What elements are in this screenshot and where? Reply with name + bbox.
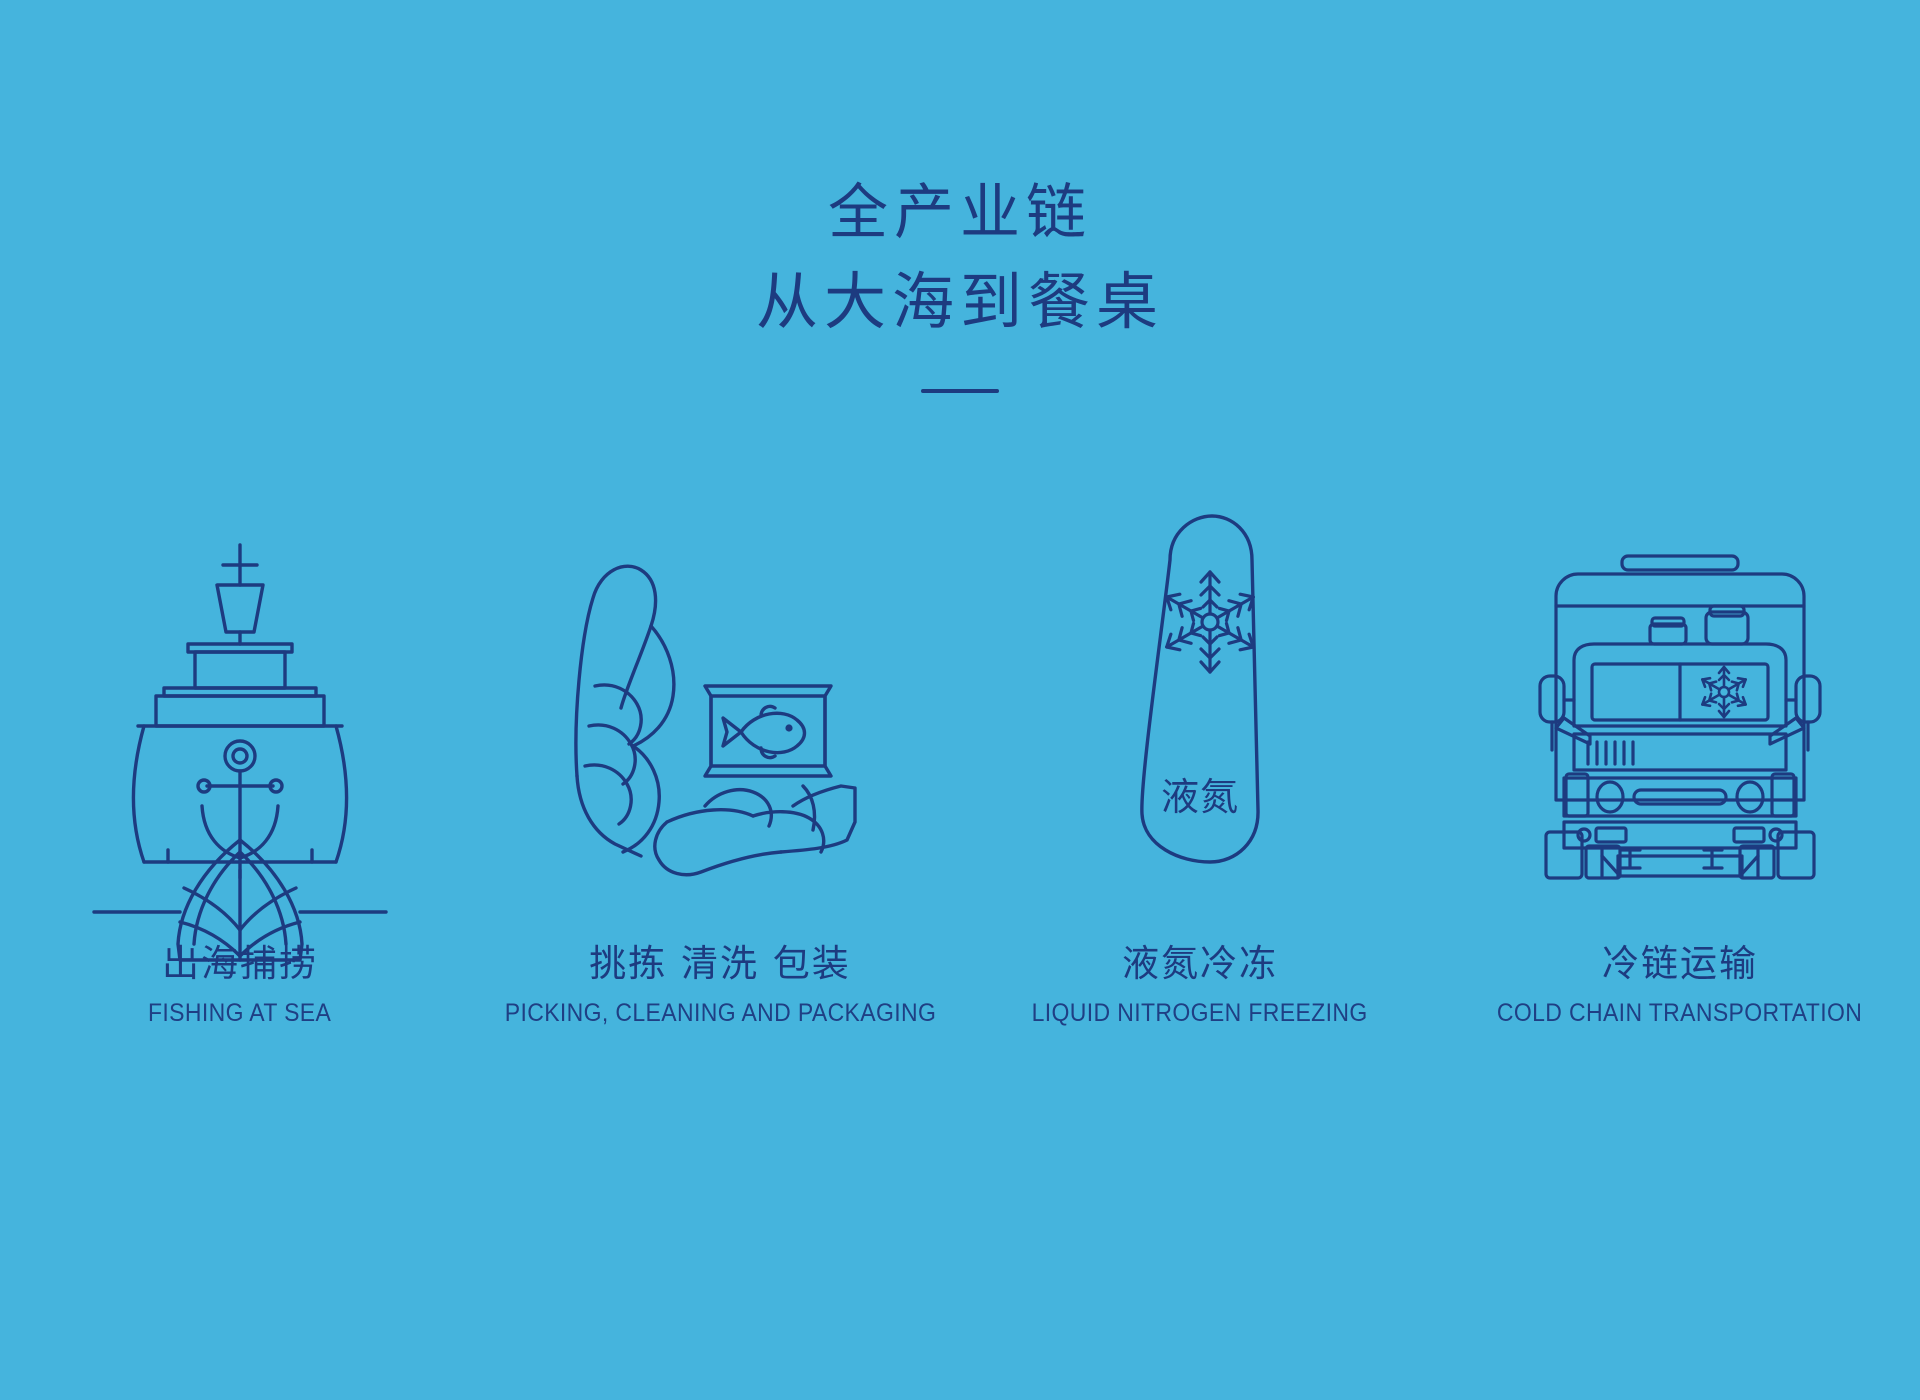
step-labels: 出海捕捞 FISHING AT SEA (140, 942, 339, 1028)
step-labels: 挑拣 清洗 包装 PICKING, CLEANING AND PACKAGING (486, 942, 955, 1028)
step-label-en: FISHING AT SEA (148, 999, 331, 1028)
page-title-primary: 全产业链 (0, 170, 1920, 257)
heading-block: 全产业链 从大海到餐桌 (0, 170, 1920, 393)
step-label-en: PICKING, CLEANING AND PACKAGING (504, 999, 935, 1028)
canister-label: 液氮 (1161, 775, 1239, 819)
step-label-cn: 出海捕捞 (140, 942, 339, 986)
refrigerated-truck-icon (1530, 520, 1830, 880)
fishing-boat-icon (80, 520, 400, 880)
hands-with-packaged-fish-icon (555, 520, 885, 880)
poster-canvas: 全产业链 从大海到餐桌 (0, 0, 1920, 1400)
process-steps: 出海捕捞 FISHING AT SEA (0, 520, 1920, 1028)
step-label-cn: 液氮冷冻 (1017, 942, 1382, 986)
step-label-en: COLD CHAIN TRANSPORTATION (1497, 999, 1862, 1028)
step-labels: 液氮冷冻 LIQUID NITROGEN FREEZING (1017, 942, 1382, 1028)
step-liquid-nitrogen-freezing[interactable]: 液氮 液氮冷冻 LIQUID NITROGEN FREEZING (960, 520, 1440, 1028)
step-labels: 冷链运输 COLD CHAIN TRANSPORTATION (1481, 942, 1878, 1028)
step-cold-chain-transportation[interactable]: 冷链运输 COLD CHAIN TRANSPORTATION (1440, 520, 1920, 1028)
title-divider (921, 389, 999, 393)
step-fishing-at-sea[interactable]: 出海捕捞 FISHING AT SEA (0, 520, 480, 1028)
liquid-nitrogen-canister-icon: 液氮 (1100, 520, 1300, 880)
step-label-cn: 冷链运输 (1481, 942, 1878, 986)
step-picking-cleaning-packaging[interactable]: 挑拣 清洗 包装 PICKING, CLEANING AND PACKAGING (480, 520, 960, 1028)
page-title-secondary: 从大海到餐桌 (0, 257, 1920, 347)
step-label-cn: 挑拣 清洗 包装 (486, 942, 955, 986)
step-label-en: LIQUID NITROGEN FREEZING (1032, 999, 1368, 1028)
